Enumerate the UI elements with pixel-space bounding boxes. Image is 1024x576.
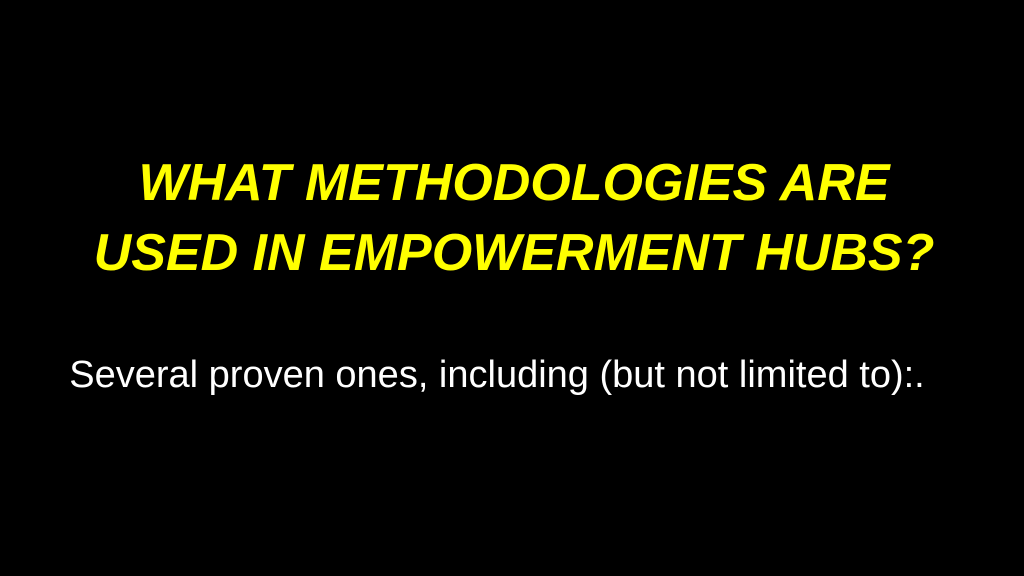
slide-title: WHAT METHODOLOGIES ARE USED IN EMPOWERME… — [64, 148, 964, 288]
slide-subtitle: Several proven ones, including (but not … — [62, 352, 932, 398]
presentation-slide: WHAT METHODOLOGIES ARE USED IN EMPOWERME… — [0, 0, 1024, 576]
slide-body-area — [0, 420, 1024, 576]
